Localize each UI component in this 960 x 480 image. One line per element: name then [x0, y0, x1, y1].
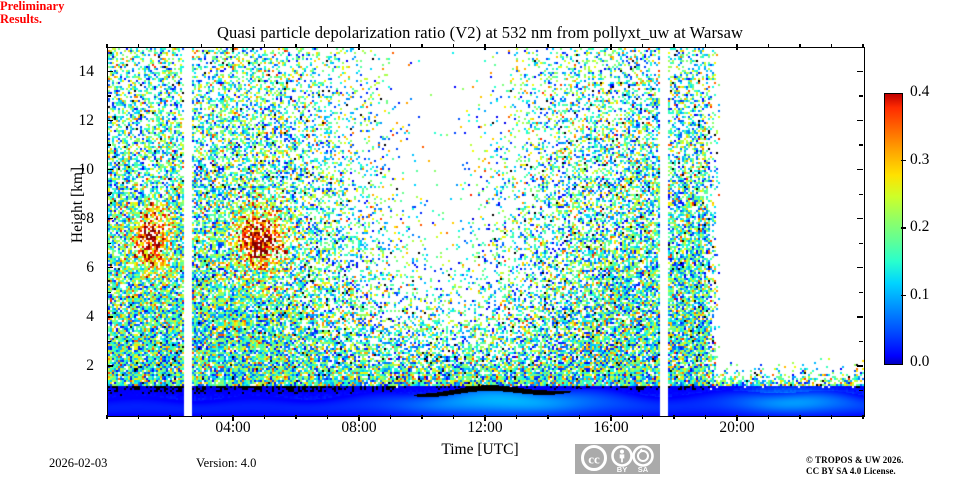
- credit-line-2: CC BY SA 4.0 License.: [806, 466, 896, 476]
- y-minor-tick-mark: [859, 390, 863, 391]
- x-minor-tick-mark: [453, 415, 454, 419]
- y-tick-label: 14: [54, 64, 94, 80]
- y-minor-tick-mark: [859, 341, 863, 342]
- x-tick-mark-top: [295, 44, 296, 48]
- x-minor-tick-mark: [516, 415, 517, 419]
- x-tick-mark-top: [390, 44, 391, 48]
- y-tick-mark: [857, 365, 863, 366]
- y-minor-tick-mark: [107, 194, 111, 195]
- x-tick-label: 16:00: [571, 420, 651, 436]
- y-minor-tick-mark: [859, 95, 863, 96]
- footer-version: Version: 4.0: [196, 456, 256, 471]
- x-tick-label: 04:00: [193, 420, 273, 436]
- y-minor-tick-mark: [107, 144, 111, 145]
- x-minor-tick-mark: [264, 415, 265, 419]
- x-minor-tick-mark: [201, 415, 202, 419]
- x-minor-tick-mark: [673, 415, 674, 419]
- y-tick-mark: [107, 71, 113, 72]
- x-tick-mark-top: [610, 44, 611, 50]
- x-tick-mark-top: [516, 44, 517, 48]
- x-tick-mark-top: [201, 44, 202, 48]
- x-tick-mark-top: [831, 44, 832, 48]
- x-minor-tick-mark: [547, 415, 548, 419]
- y-minor-tick-mark: [859, 194, 863, 195]
- x-tick-mark-top: [642, 44, 643, 48]
- x-minor-tick-mark: [138, 415, 139, 419]
- y-tick-mark: [107, 120, 113, 121]
- y-tick-mark: [857, 316, 863, 317]
- copyright-credit: © TROPOS & UW 2026. CC BY SA 4.0 License…: [806, 455, 904, 476]
- x-minor-tick-mark: [768, 415, 769, 419]
- x-tick-mark-top: [673, 44, 674, 48]
- x-tick-mark-top: [232, 44, 233, 50]
- x-tick-mark-top: [106, 44, 107, 48]
- x-tick-mark: [736, 415, 737, 421]
- page-title: Quasi particle depolarization ratio (V2)…: [0, 23, 960, 43]
- x-tick-mark-top: [862, 44, 863, 48]
- x-minor-tick-mark: [799, 415, 800, 419]
- y-tick-mark: [857, 71, 863, 72]
- y-axis-label: Height [km]: [69, 115, 87, 295]
- svg-text:cc: cc: [588, 452, 600, 467]
- y-minor-tick-mark: [107, 95, 111, 96]
- y-minor-tick-mark: [859, 292, 863, 293]
- x-tick-mark-top: [138, 44, 139, 48]
- colorbar-tick-label: 0.0: [910, 354, 954, 370]
- x-tick-label: 08:00: [319, 420, 399, 436]
- x-tick-mark-top: [705, 44, 706, 48]
- y-tick-label: 2: [54, 358, 94, 374]
- y-minor-tick-mark: [859, 243, 863, 244]
- y-tick-label: 4: [54, 309, 94, 325]
- x-minor-tick-mark: [327, 415, 328, 419]
- x-tick-mark-top: [547, 44, 548, 48]
- x-tick-mark: [610, 415, 611, 421]
- x-tick-mark-top: [264, 44, 265, 48]
- colorbar-tick-label: 0.4: [910, 84, 954, 100]
- x-tick-mark-top: [358, 44, 359, 50]
- x-minor-tick-mark: [705, 415, 706, 419]
- colorbar-tick-mark: [901, 295, 906, 296]
- cc-by-label: BY: [617, 465, 627, 474]
- x-minor-tick-mark: [106, 415, 107, 419]
- x-minor-tick-mark: [421, 415, 422, 419]
- footer-date: 2026-02-03: [49, 456, 107, 471]
- y-tick-mark: [107, 267, 113, 268]
- x-minor-tick-mark: [831, 415, 832, 419]
- y-tick-mark: [107, 365, 113, 366]
- x-tick-mark-top: [579, 44, 580, 48]
- y-tick-mark: [107, 218, 113, 219]
- y-tick-mark: [857, 267, 863, 268]
- x-tick-label: 20:00: [697, 420, 777, 436]
- y-tick-mark: [107, 316, 113, 317]
- x-minor-tick-mark: [642, 415, 643, 419]
- y-tick-mark: [857, 218, 863, 219]
- lidar-heatmap-canvas: [108, 48, 864, 416]
- y-minor-tick-mark: [107, 390, 111, 391]
- x-minor-tick-mark: [295, 415, 296, 419]
- x-tick-mark-top: [327, 44, 328, 48]
- x-minor-tick-mark: [862, 415, 863, 419]
- x-minor-tick-mark: [169, 415, 170, 419]
- x-tick-mark: [484, 415, 485, 421]
- lidar-quicklook-plot: [107, 47, 865, 417]
- colorbar-tick-mark: [901, 227, 906, 228]
- x-tick-mark-top: [484, 44, 485, 50]
- x-tick-mark-top: [799, 44, 800, 48]
- y-minor-tick-mark: [107, 292, 111, 293]
- y-minor-tick-mark: [107, 243, 111, 244]
- x-tick-label: 12:00: [445, 420, 525, 436]
- y-minor-tick-mark: [859, 144, 863, 145]
- colorbar-tick-mark: [901, 160, 906, 161]
- y-tick-mark: [107, 169, 113, 170]
- x-minor-tick-mark: [579, 415, 580, 419]
- y-tick-mark: [857, 169, 863, 170]
- x-tick-mark-top: [736, 44, 737, 50]
- x-tick-mark-top: [421, 44, 422, 48]
- x-tick-mark-top: [453, 44, 454, 48]
- colorbar-tick-label: 0.2: [910, 219, 954, 235]
- colorbar: [884, 93, 903, 365]
- x-tick-mark-top: [169, 44, 170, 48]
- creative-commons-badge-icon: cc BY SA: [575, 444, 660, 474]
- x-minor-tick-mark: [390, 415, 391, 419]
- colorbar-tick-label: 0.1: [910, 287, 954, 303]
- credit-line-1: © TROPOS & UW 2026.: [806, 455, 904, 465]
- x-tick-mark: [232, 415, 233, 421]
- colorbar-tick-label: 0.3: [910, 152, 954, 168]
- cc-sa-label: SA: [638, 465, 649, 474]
- y-minor-tick-mark: [107, 341, 111, 342]
- x-tick-mark: [358, 415, 359, 421]
- y-tick-mark: [857, 120, 863, 121]
- x-tick-mark-top: [768, 44, 769, 48]
